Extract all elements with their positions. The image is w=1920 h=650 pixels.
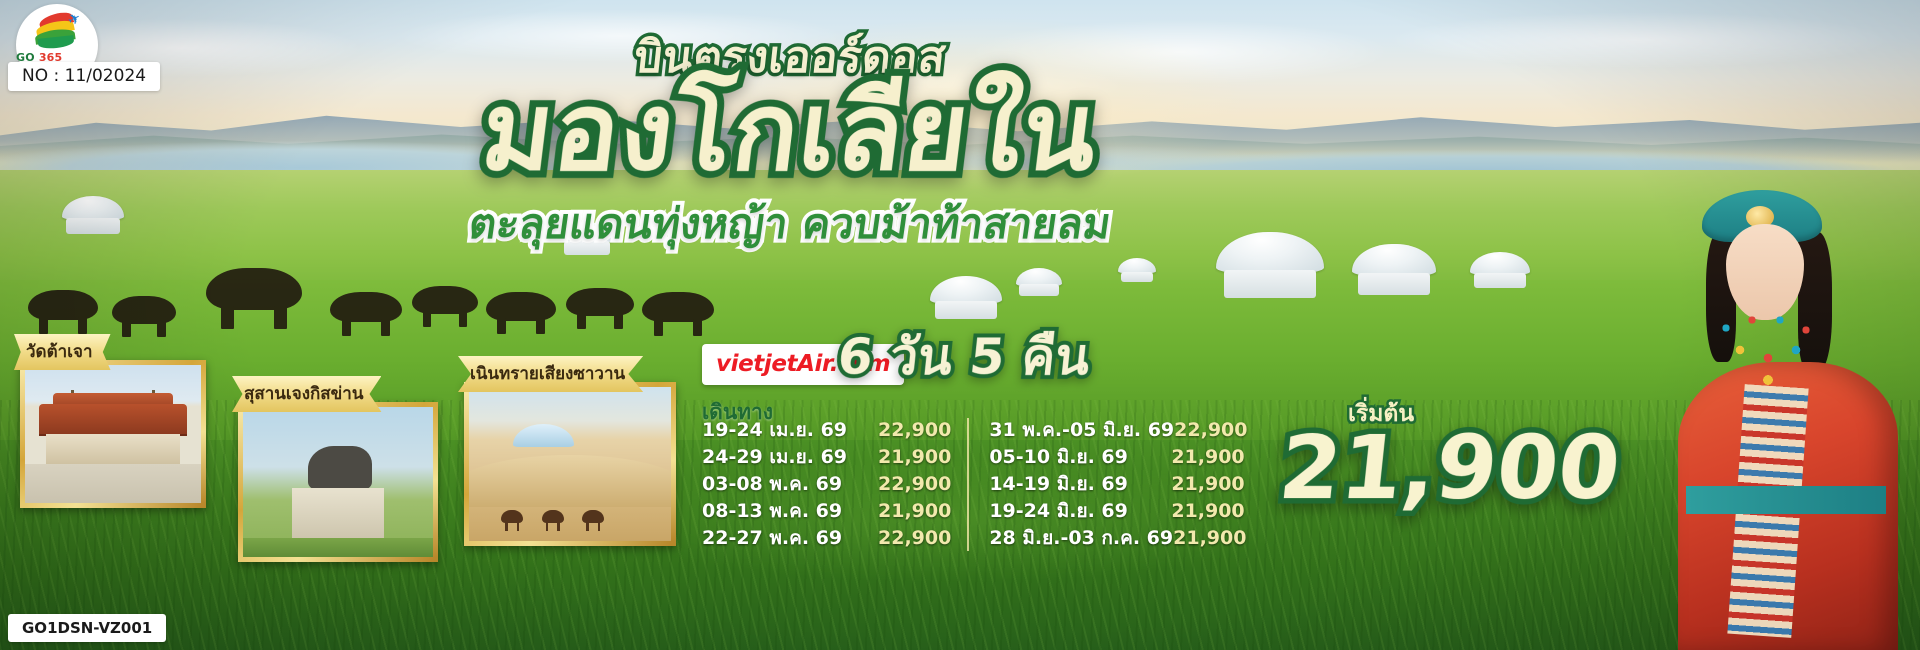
horse-silhouette	[28, 290, 98, 320]
departure-price: 22,900	[878, 418, 951, 443]
trip-duration: 6 วัน 5 คืน	[835, 332, 1092, 382]
departure-table: 19-24 เม.ย. 69 22,900 24-29 เม.ย. 69 21,…	[702, 418, 1263, 551]
departure-price: 21,900	[1173, 526, 1246, 551]
price-amount: 21,900	[1275, 424, 1624, 512]
model-figure	[1650, 190, 1920, 650]
horse-silhouette	[412, 286, 478, 314]
photo-label-sand-dune: เนินทรายเสียงซาวาน	[458, 356, 643, 392]
yurt-icon	[1016, 268, 1062, 298]
product-code-badge: GO1DSN-VZ001	[8, 614, 166, 642]
table-row: 19-24 เม.ย. 69 22,900	[702, 418, 951, 443]
photo-mausoleum[interactable]	[238, 402, 438, 562]
photo-label-temple: วัดต้าเจา	[14, 334, 111, 370]
photo-sand-dune[interactable]	[464, 382, 676, 546]
table-row: 19-24 มิ.ย. 69 21,900	[989, 499, 1247, 524]
photo-temple[interactable]	[20, 360, 206, 508]
departure-price: 22,900	[1174, 418, 1247, 443]
departure-price: 22,900	[878, 526, 951, 551]
horse-silhouette	[486, 292, 556, 321]
departure-price: 21,900	[1171, 499, 1244, 524]
yurt-icon	[1470, 252, 1530, 290]
globe-icon: ✈	[35, 12, 79, 52]
departure-date: 31 พ.ค.-05 มิ.ย. 69	[989, 418, 1174, 443]
departure-date: 14-19 มิ.ย. 69	[989, 472, 1171, 497]
departure-date: 05-10 มิ.ย. 69	[989, 445, 1171, 470]
departure-column-right: 31 พ.ค.-05 มิ.ย. 69 22,900 05-10 มิ.ย. 6…	[967, 418, 1263, 551]
departure-price: 22,900	[878, 472, 951, 497]
headline-block: บินตรงเออร์ดอส มองโกเลียใน ตะลุยแดนทุ่งห…	[430, 36, 1150, 245]
table-row: 08-13 พ.ค. 69 21,900	[702, 499, 951, 524]
table-row: 05-10 มิ.ย. 69 21,900	[989, 445, 1247, 470]
departure-column-left: 19-24 เม.ย. 69 22,900 24-29 เม.ย. 69 21,…	[702, 418, 967, 551]
yurt-icon	[1216, 232, 1324, 302]
departure-date: 24-29 เม.ย. 69	[702, 445, 878, 470]
departure-date: 03-08 พ.ค. 69	[702, 472, 878, 497]
horse-silhouette	[206, 268, 302, 310]
yurt-icon	[1118, 258, 1156, 283]
horse-silhouette	[112, 296, 176, 324]
horse-silhouette	[642, 292, 714, 322]
photo-label-mausoleum: สุสานเจงกิสข่าน	[232, 376, 381, 412]
departure-date: 19-24 มิ.ย. 69	[989, 499, 1171, 524]
horse-silhouette	[330, 292, 402, 322]
yurt-icon	[62, 196, 124, 236]
table-row: 14-19 มิ.ย. 69 21,900	[989, 472, 1247, 497]
travel-promo-banner: ✈ GO 365 Travel Leaders in Global Touris…	[0, 0, 1920, 650]
departure-date: 08-13 พ.ค. 69	[702, 499, 878, 524]
headline-subtitle: ตะลุยแดนทุ่งหญ้า ควบม้าท้าสายลม	[427, 203, 1153, 245]
horse-silhouette	[566, 288, 634, 316]
yurt-icon	[930, 276, 1002, 322]
departure-price: 21,900	[1171, 472, 1244, 497]
table-row: 22-27 พ.ค. 69 22,900	[702, 526, 951, 551]
table-row: 03-08 พ.ค. 69 22,900	[702, 472, 951, 497]
document-number-badge: NO : 11/02024	[8, 62, 160, 91]
table-row: 28 มิ.ย.-03 ก.ค. 69 21,900	[989, 526, 1247, 551]
departure-date: 28 มิ.ย.-03 ก.ค. 69	[989, 526, 1173, 551]
departure-price: 21,900	[1171, 445, 1244, 470]
departure-date: 19-24 เม.ย. 69	[702, 418, 878, 443]
departure-price: 21,900	[878, 499, 951, 524]
table-row: 24-29 เม.ย. 69 21,900	[702, 445, 951, 470]
yurt-icon	[1352, 244, 1436, 298]
headline-title: มองโกเลียใน	[423, 76, 1157, 189]
table-row: 31 พ.ค.-05 มิ.ย. 69 22,900	[989, 418, 1247, 443]
departure-date: 22-27 พ.ค. 69	[702, 526, 878, 551]
departure-price: 21,900	[878, 445, 951, 470]
beaded-necklace	[1712, 316, 1824, 390]
